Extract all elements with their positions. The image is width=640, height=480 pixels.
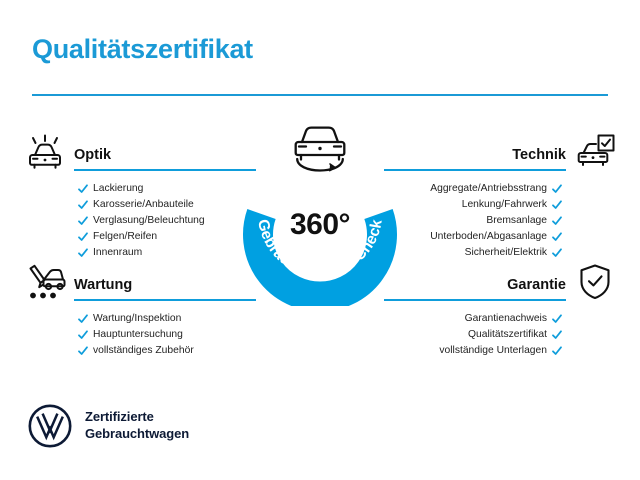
checklist-wartung: Wartung/Inspektion Hauptuntersuchung vol… [24, 311, 256, 359]
list-item: Lenkung/Fahrwerk [384, 197, 562, 213]
car-checkbox-icon [574, 132, 616, 172]
list-item: Wartung/Inspektion [78, 311, 256, 327]
list-item: Qualitätszertifikat [384, 327, 562, 343]
list-item-label: Lackierung [93, 184, 143, 194]
list-item: Felgen/Reifen [78, 229, 256, 245]
list-item-label: Bremsanlage [486, 216, 547, 226]
section-technik: Technik Aggregate/Antriebsstrang Lenkung… [384, 128, 616, 261]
section-title-wartung: Wartung [74, 278, 256, 299]
title-divider [32, 94, 608, 96]
list-item-label: Karosserie/Anbauteile [93, 200, 194, 210]
check-icon [78, 248, 88, 258]
car-rotate-icon [284, 120, 356, 176]
shield-check-icon [574, 262, 616, 302]
badge-center-label: 360° [238, 208, 402, 242]
check-icon [78, 232, 88, 242]
list-item: vollständige Unterlagen [384, 343, 562, 359]
list-item: Lackierung [78, 181, 256, 197]
list-item-label: Verglasung/Beleuchtung [93, 216, 205, 226]
section-header-technik: Technik [384, 128, 616, 172]
list-item: Unterboden/Abgasanlage [384, 229, 562, 245]
list-item: Hauptuntersuchung [78, 327, 256, 343]
check-icon [552, 216, 562, 226]
section-header-garantie: Garantie [384, 258, 616, 302]
section-garantie: Garantie Garantienachweis Qualitätszerti… [384, 258, 616, 359]
list-item-label: vollständige Unterlagen [439, 346, 547, 356]
checklist-garantie: Garantienachweis Qualitätszertifikat vol… [384, 311, 616, 359]
vw-lockup-text: Zertifizierte Gebrauchtwagen [85, 409, 189, 442]
section-title-garantie: Garantie [384, 278, 566, 299]
vw-certified-lockup: Zertifizierte Gebrauchtwagen [28, 404, 189, 448]
car-shine-icon [24, 132, 66, 172]
list-item-label: Garantienachweis [465, 314, 547, 324]
list-item-label: Unterboden/Abgasanlage [430, 232, 547, 242]
list-item: Karosserie/Anbauteile [78, 197, 256, 213]
check-icon [78, 314, 88, 324]
list-item-label: Felgen/Reifen [93, 232, 157, 242]
list-item-label: Innenraum [93, 248, 142, 258]
vw-roundel-logo [28, 404, 72, 448]
list-item-label: Lenkung/Fahrwerk [462, 200, 547, 210]
section-optik: Optik Lackierung Karosserie/Anbauteile V… [24, 128, 256, 261]
check-icon [552, 232, 562, 242]
section-divider-technik [384, 169, 566, 171]
check-icon [78, 200, 88, 210]
list-item-label: vollständiges Zubehör [93, 346, 194, 356]
list-item: Verglasung/Beleuchtung [78, 213, 256, 229]
check-icon [552, 314, 562, 324]
section-header-wartung: Wartung [24, 258, 256, 302]
car-service-log-icon [24, 262, 66, 302]
check-icon [78, 330, 88, 340]
check-icon [552, 200, 562, 210]
section-title-technik: Technik [384, 148, 566, 169]
section-divider-wartung [74, 299, 256, 301]
list-item: Aggregate/Antriebsstrang [384, 181, 562, 197]
section-divider-optik [74, 169, 256, 171]
check-icon [552, 248, 562, 258]
section-divider-garantie [384, 299, 566, 301]
list-item-label: Qualitätszertifikat [468, 330, 547, 340]
vw-lockup-line2: Gebrauchtwagen [85, 426, 189, 443]
360-check-badge: Gebrauchtwagen-Check 360° [238, 120, 402, 306]
list-item-label: Sicherheit/Elektrik [465, 248, 547, 258]
check-icon [78, 346, 88, 356]
page-title: Qualitätszertifikat [32, 34, 253, 65]
list-item: Bremsanlage [384, 213, 562, 229]
list-item: vollständiges Zubehör [78, 343, 256, 359]
check-icon [78, 184, 88, 194]
list-item-label: Hauptuntersuchung [93, 330, 183, 340]
check-icon [552, 330, 562, 340]
section-title-optik: Optik [74, 148, 256, 169]
checklist-technik: Aggregate/Antriebsstrang Lenkung/Fahrwer… [384, 181, 616, 261]
check-icon [552, 346, 562, 356]
vw-lockup-line1: Zertifizierte [85, 409, 189, 426]
check-icon [78, 216, 88, 226]
check-icon [552, 184, 562, 194]
list-item: Garantienachweis [384, 311, 562, 327]
checklist-optik: Lackierung Karosserie/Anbauteile Verglas… [24, 181, 256, 261]
list-item-label: Aggregate/Antriebsstrang [430, 184, 547, 194]
list-item-label: Wartung/Inspektion [93, 314, 181, 324]
section-wartung: Wartung Wartung/Inspektion Hauptuntersuc… [24, 258, 256, 359]
section-header-optik: Optik [24, 128, 256, 172]
